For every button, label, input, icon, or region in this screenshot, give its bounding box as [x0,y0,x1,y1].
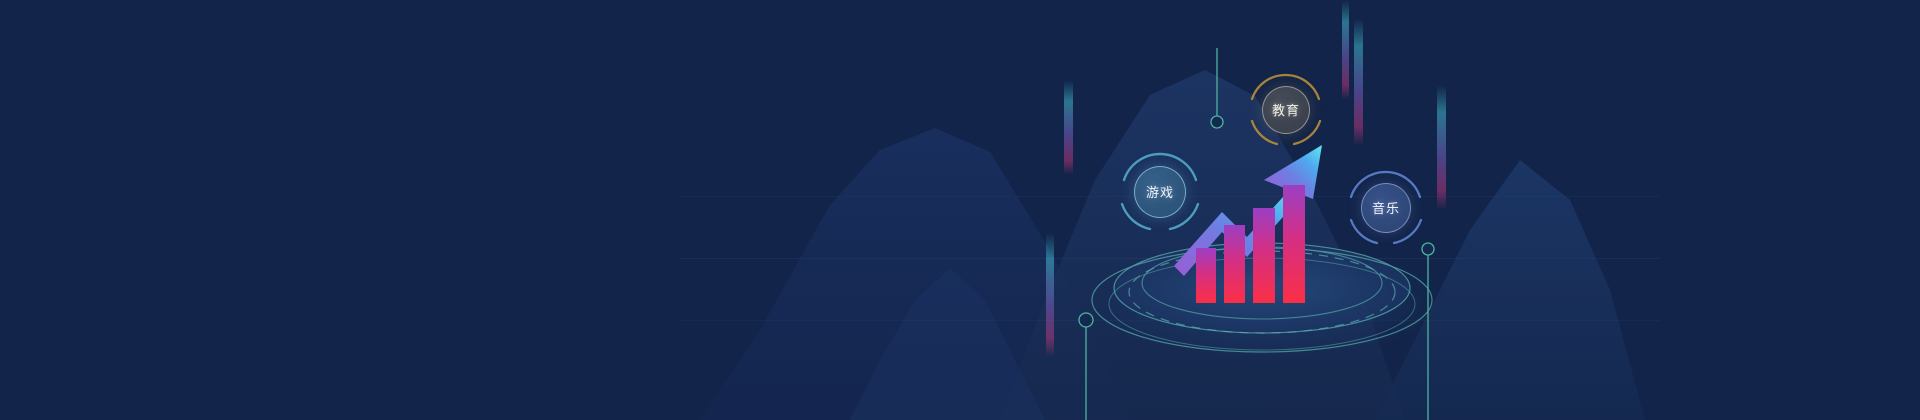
badge-rings [0,0,1920,420]
badge-label-games: 游戏 [1146,186,1174,199]
badge-label-education: 教育 [1272,104,1300,117]
category-badge-music[interactable]: 音乐 [1361,183,1411,233]
category-badge-education[interactable]: 教育 [1262,86,1310,134]
category-badge-games[interactable]: 游戏 [1134,166,1186,218]
hero-banner: 游戏 教育 音乐 [0,0,1920,420]
badge-label-music: 音乐 [1372,202,1400,215]
